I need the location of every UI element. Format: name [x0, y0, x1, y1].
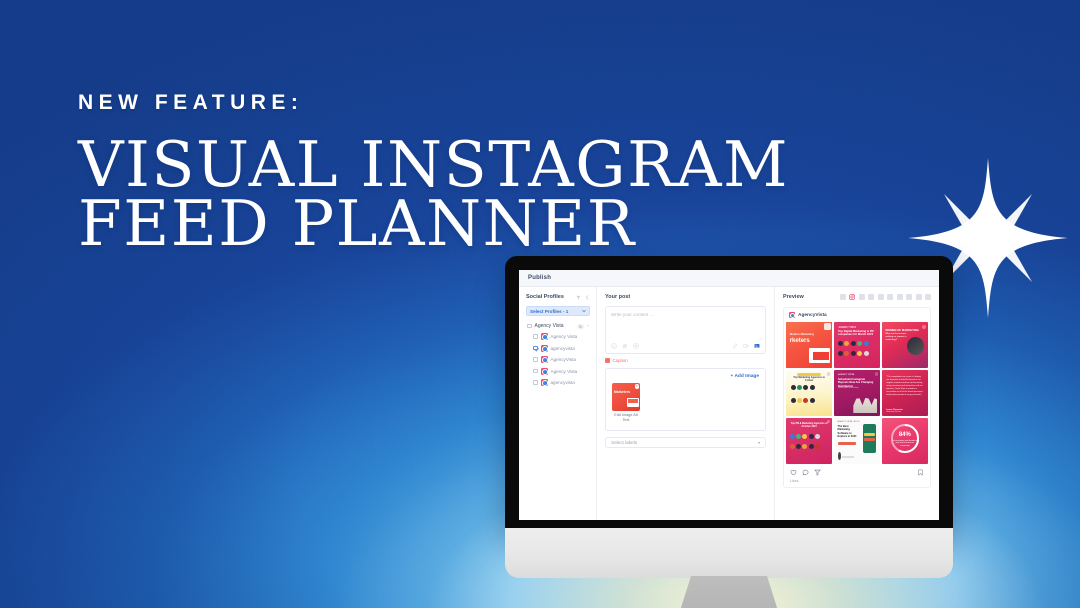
post-actions	[784, 464, 930, 479]
preview-account-row: AgencyVista	[784, 308, 930, 322]
hashtag-icon[interactable]	[622, 343, 628, 349]
feed-cell[interactable]: Top PR & Marketing Agencies of October 2…	[786, 418, 832, 464]
profile-name: Agency Vista	[551, 334, 578, 339]
feed-cell[interactable]: Top Marketing Agencies to Follow	[786, 370, 832, 416]
preview-title: Preview	[783, 294, 804, 300]
feed-cell[interactable]: "The competition we create is helping ou…	[882, 370, 928, 416]
social-profiles-title: Social Profiles	[526, 294, 564, 300]
tiktok-icon[interactable]	[906, 294, 912, 300]
composer-box[interactable]: Write your content ...	[605, 306, 766, 354]
feed-cell[interactable]: Modern Marketing rketers	[786, 322, 832, 368]
comment-icon[interactable]	[802, 469, 809, 476]
add-image-button[interactable]: + Add Image	[731, 374, 759, 379]
profile-avatar	[541, 356, 548, 363]
profile-list-item[interactable]: agencyvista	[526, 379, 590, 386]
instagram-preview-card: AgencyVista Modern Marketing rketers	[783, 307, 931, 488]
post-meta: Likes	[784, 479, 930, 487]
mastodon-icon[interactable]	[925, 294, 931, 300]
labels-select[interactable]: Select labels ▾	[605, 437, 766, 448]
preview-header: Preview	[783, 294, 931, 300]
profile-name: AgencyVista	[551, 357, 576, 362]
select-profiles-label: Select Profiles - 1	[530, 309, 568, 314]
profile-list-item[interactable]: AgencyVista	[526, 356, 590, 363]
post-composer-panel: Your post Write your content ...	[597, 287, 775, 520]
composer-placeholder: Write your content ...	[611, 312, 760, 317]
profile-checkbox[interactable]	[533, 380, 538, 385]
profile-group-row[interactable]: Agency Vista 5 ⌃	[526, 323, 590, 329]
feed-cell[interactable]: WOMEN OF MARKETING Who are the women mak…	[882, 322, 928, 368]
google-business-icon[interactable]	[897, 294, 903, 300]
feed-cell[interactable]: AGENCY VISTA Top Digital Marketing & PR …	[834, 322, 880, 368]
youtube-icon[interactable]	[878, 294, 884, 300]
monitor-stand	[679, 576, 779, 608]
monitor-chin	[505, 528, 953, 578]
profile-list-item[interactable]: Agency Vista	[526, 368, 590, 375]
network-tabs	[840, 294, 932, 300]
edit-alt-text-link[interactable]: Edit Image Alt Text	[612, 413, 640, 423]
select-profiles-dropdown[interactable]: Select Profiles - 1	[526, 306, 590, 316]
eyebrow-text: NEW FEATURE:	[78, 92, 789, 113]
preview-account-name: AgencyVista	[798, 313, 827, 318]
profile-checkbox[interactable]	[533, 369, 538, 374]
preview-panel: Preview	[775, 287, 939, 520]
linkedin-icon[interactable]	[859, 294, 865, 300]
emoji-icon[interactable]	[611, 343, 617, 349]
composer-toolbar	[611, 343, 760, 353]
feed-cell[interactable]: 84% of consumers want brands to post soc…	[882, 418, 928, 464]
headline-block: NEW FEATURE: VISUAL INSTAGRAM FEED PLANN…	[78, 92, 789, 253]
profile-name: agencyvista	[551, 346, 575, 351]
feed-cell[interactable]: AGENCY VISTA Scheduled Instagram Reposts…	[834, 370, 880, 416]
profile-list-item[interactable]: Agency Vista	[526, 333, 590, 340]
video-icon[interactable]	[743, 343, 749, 349]
error-icon	[605, 358, 610, 363]
profile-checkbox[interactable]	[533, 357, 538, 362]
chevron-left-icon[interactable]	[585, 295, 590, 300]
instagram-icon[interactable]	[849, 294, 855, 300]
instagram-feed-grid: Modern Marketing rketers AGENCY VISTA	[784, 322, 930, 464]
media-attachments-box: + Add Image Marketers × Edit Image Alt T…	[605, 368, 766, 431]
filter-icon[interactable]	[576, 295, 581, 300]
mention-icon[interactable]	[633, 343, 639, 349]
chevron-down-icon	[582, 309, 586, 313]
profile-avatar	[541, 345, 548, 352]
link-icon[interactable]	[732, 343, 738, 349]
twitter-icon[interactable]	[868, 294, 874, 300]
facebook-icon[interactable]	[840, 294, 846, 300]
feed-cell[interactable]: AGENCY VISTA · BLOG The Best Marketing S…	[834, 418, 880, 464]
social-profiles-header: Social Profiles	[526, 294, 590, 300]
composer-error: Caption	[605, 358, 766, 363]
threads-icon[interactable]	[916, 294, 922, 300]
thumbnail-art	[627, 398, 639, 407]
your-post-title: Your post	[605, 294, 766, 300]
profile-list-item[interactable]: agencyvista	[526, 345, 590, 352]
profile-avatar	[541, 368, 548, 375]
pin-badge	[824, 323, 831, 330]
group-count-badge: 5	[577, 324, 583, 329]
profile-name: agencyvista	[551, 380, 575, 385]
chevron-up-icon[interactable]: ⌃	[587, 324, 590, 329]
app-screen: Publish Social Profiles Select Profiles …	[519, 270, 939, 520]
image-icon[interactable]	[754, 343, 760, 349]
avatar	[789, 312, 795, 318]
app-title: Publish	[528, 275, 551, 281]
title-line-2: FEED PLANNER	[78, 194, 789, 253]
heart-icon[interactable]	[790, 469, 797, 476]
app-body: Social Profiles Select Profiles - 1 Agen…	[519, 287, 939, 520]
thumbnail-text: Marketers	[614, 390, 630, 394]
group-checkbox[interactable]	[527, 324, 532, 329]
bookmark-icon[interactable]	[917, 469, 924, 476]
app-header: Publish	[519, 270, 939, 287]
page-title: VISUAL INSTAGRAM FEED PLANNER	[78, 135, 789, 253]
share-icon[interactable]	[814, 469, 821, 476]
profile-name: Agency Vista	[551, 369, 578, 374]
chevron-down-icon: ▾	[758, 440, 760, 445]
resize-handle-icon[interactable]	[758, 337, 762, 341]
profile-avatar	[541, 379, 548, 386]
desktop-monitor: Publish Social Profiles Select Profiles …	[505, 256, 953, 608]
social-profiles-panel: Social Profiles Select Profiles - 1 Agen…	[519, 287, 597, 520]
pinterest-icon[interactable]	[887, 294, 893, 300]
attachment-thumbnail[interactable]: Marketers ×	[612, 383, 640, 411]
profile-checkbox[interactable]	[533, 334, 538, 339]
remove-attachment-button[interactable]: ×	[635, 384, 640, 389]
labels-placeholder: Select labels	[611, 440, 637, 445]
group-name: Agency Vista	[535, 323, 575, 329]
profile-checkbox[interactable]	[533, 346, 538, 351]
profile-avatar	[541, 333, 548, 340]
error-text: Caption	[613, 358, 628, 363]
